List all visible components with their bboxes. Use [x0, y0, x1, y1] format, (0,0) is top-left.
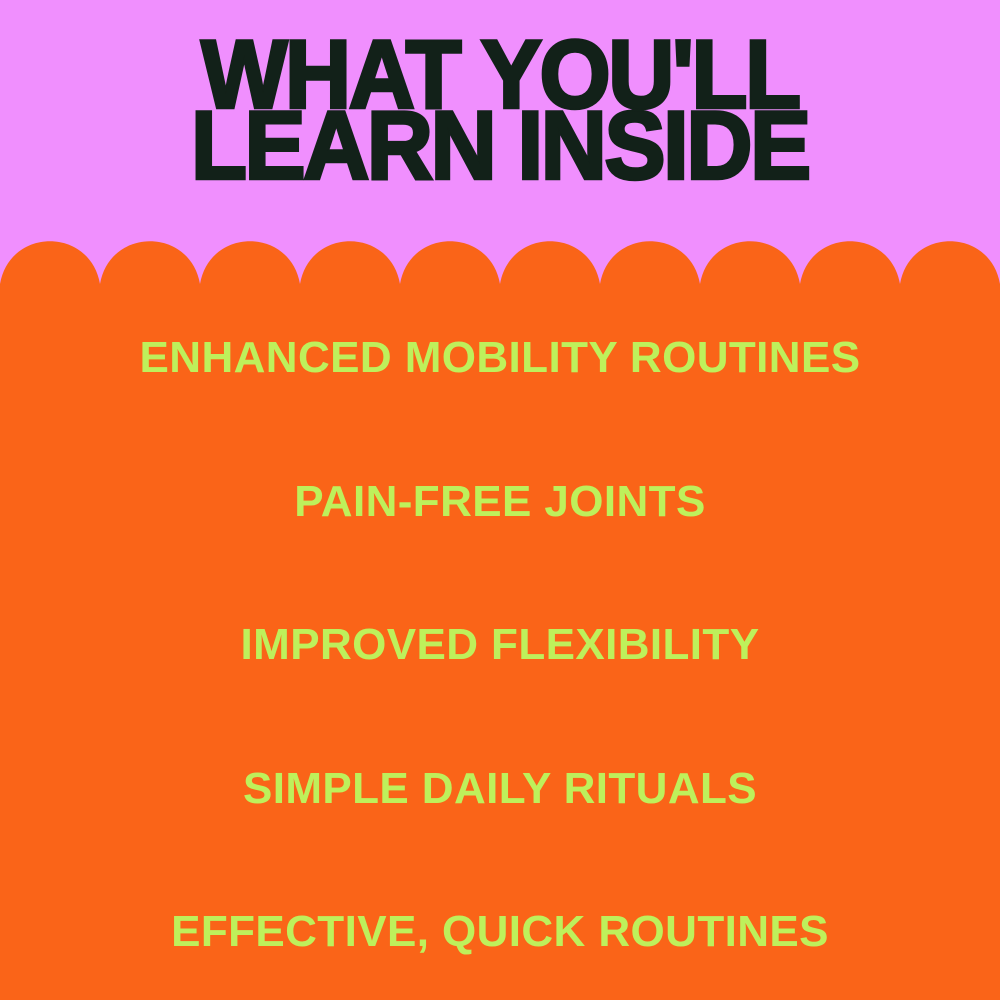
header-band: WHAT YOU'LL LEARN INSIDE	[0, 0, 1000, 290]
benefit-item-2: PAIN-FREE JOINTS	[0, 480, 1000, 524]
page-title-line-2: LEARN INSIDE	[0, 107, 1000, 187]
promo-poster: WHAT YOU'LL LEARN INSIDE ENHANCED MOBILI…	[0, 0, 1000, 1000]
page-title: WHAT YOU'LL LEARN INSIDE	[0, 36, 1000, 179]
benefit-list: ENHANCED MOBILITY ROUTINES PAIN-FREE JOI…	[0, 300, 1000, 1000]
benefit-item-3: IMPROVED FLEXIBILITY	[0, 623, 1000, 667]
benefit-item-1: ENHANCED MOBILITY ROUTINES	[0, 336, 1000, 380]
benefit-item-4: SIMPLE DAILY RITUALS	[0, 767, 1000, 811]
benefit-item-5: EFFECTIVE, QUICK ROUTINES	[0, 910, 1000, 954]
